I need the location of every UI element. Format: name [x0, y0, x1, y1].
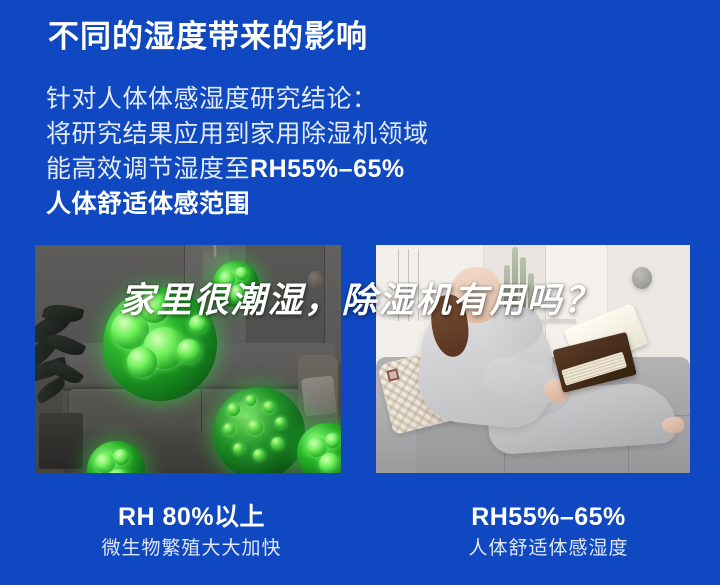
caption-description: 微生物繁殖大大加快 [20, 534, 363, 564]
virus-particle-icon [213, 387, 305, 473]
caption-row: RH 80%以上 微生物繁殖大大加快 RH55%–65% 人体舒适体感湿度 [0, 500, 720, 580]
photo-high-humidity-room [35, 245, 341, 473]
photo-comfortable-room [376, 245, 690, 473]
plant-leaf [45, 329, 86, 360]
page-title: 不同的湿度带来的影响 [48, 18, 368, 57]
caption-comfort-range: RH55%–65% 人体舒适体感湿度 [363, 500, 720, 580]
caption-description: 人体舒适体感湿度 [377, 534, 720, 564]
wall-knob-decor [308, 271, 323, 290]
sofa-cushion [301, 375, 337, 416]
intro-line-3: 能高效调节湿度至RH55%–65% [46, 152, 666, 187]
intro-text-block: 针对人体体感湿度研究结论： 将研究结果应用到家用除湿机领域 能高效调节湿度至RH… [46, 82, 666, 222]
intro-line-4: 人体舒适体感范围 [46, 187, 666, 222]
photo-comparison-row [0, 245, 720, 473]
microbe-cluster-icon [213, 261, 259, 307]
sofa-seam [201, 389, 202, 433]
caption-high-humidity: RH 80%以上 微生物繁殖大大加快 [0, 500, 363, 580]
caption-value: RH 80%以上 [20, 500, 363, 534]
figure-foot [662, 417, 684, 433]
humidity-infographic-poster: 不同的湿度带来的影响 针对人体体感湿度研究结论： 将研究结果应用到家用除湿机领域… [0, 0, 720, 585]
dark-living-room-scene [35, 245, 341, 473]
intro-line-2: 将研究结果应用到家用除湿机领域 [46, 117, 666, 152]
woman-reading-figure [376, 245, 690, 473]
microbe-cluster-icon [103, 287, 217, 401]
plant-leaf [35, 376, 68, 404]
caption-value: RH55%–65% [377, 500, 720, 534]
intro-line-3-normal: 能高效调节湿度至 [46, 155, 250, 183]
potted-plant [35, 303, 99, 473]
intro-line-1: 针对人体体感湿度研究结论： [46, 82, 666, 117]
intro-line-3-highlight: RH55%–65% [250, 155, 405, 183]
bright-living-room-scene [376, 245, 690, 473]
plant-pot [39, 413, 83, 469]
